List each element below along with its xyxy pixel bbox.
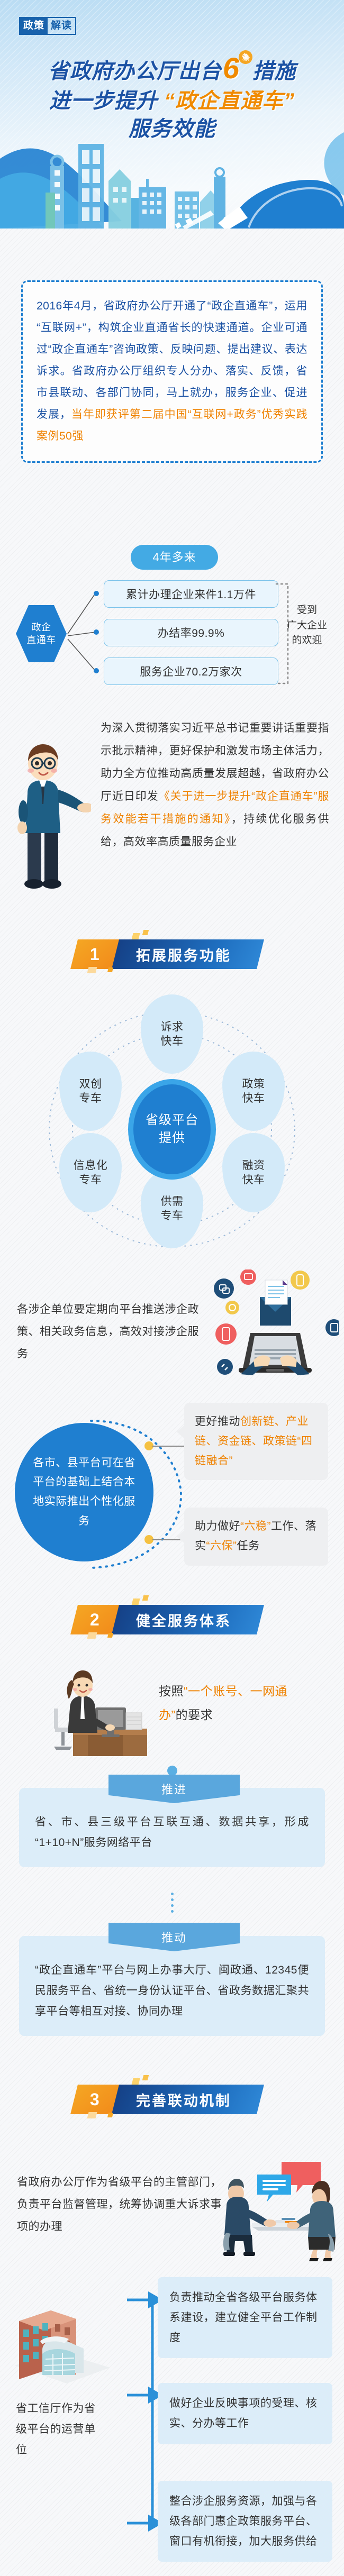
page-header: 政策 解读 省政府办公厅出台6条措施 进一步提升 “政企直通车” 服务效能 [0,0,344,229]
gongxinting-label: 省工信厅作为省级平台的运营单位 [16,2399,101,2461]
title-line-2-highlight: “政企直通车” [164,89,295,113]
section-header-1: 拓展服务功能 1 [74,936,275,971]
section-3-number-chip: 3 [70,2085,119,2114]
petal-center-line-1: 省级平台 [146,1111,198,1129]
petal-1-line-1: 政策 [242,1077,265,1091]
section2-req-a: 按照 [159,1684,184,1698]
petal-1-line-2: 快车 [242,1091,265,1106]
stats-note: 受到 广大企业 的欢迎 [279,603,334,648]
section-3-number: 3 [90,2090,99,2109]
stats-hexagon-label: 政企 直通车 [16,605,67,662]
petal-center-line-2: 提供 [159,1129,185,1147]
petal-0-line-1: 诉求 [161,1020,184,1034]
policy-paragraph: 为深入贯彻落实习近平总书记重要讲话重要指示批示精神，更好保护和激发市场主体活力，… [101,717,329,853]
hexagon-line-1: 政企 [32,621,51,634]
section-2-number: 2 [90,1610,99,1630]
flow-dots-2 [171,1893,174,1918]
section-header-2: 健全服务体系 2 [74,1602,275,1637]
intro-dashed-box: 2016年4月，省政府办公厅开通了“政企直通车”，运用“互联网+”，构筑企业直通… [21,280,323,463]
flow-dot [171,1904,174,1907]
section-1-title-bar: 拓展服务功能 [103,939,264,969]
section-1-number-chip: 1 [70,939,119,969]
stats-period-pill: 4年多来 [131,545,218,570]
policy-paragraph-block: 为深入贯彻落实习近平总书记重要讲话重要指示批示精神，更好保护和激发市场主体活力，… [101,717,329,853]
page-title: 省政府办公厅出台6条措施 进一步提升 “政企直通车” 服务效能 [0,51,344,142]
section3-duty-box-2: 做好企业反映事项的受理、核实、分办等工作 [158,2383,332,2444]
title-line-1-suffix: 措施 [252,60,296,83]
petal-4-line-1: 信息化 [74,1158,108,1173]
section1-paragraph: 各涉企单位要定期向平台推送涉企政策、相关政务信息，高效对接涉企服务 [17,1299,202,1365]
title-line-3: 服务效能 [0,117,344,142]
section-2-spark-2 [142,1595,149,1601]
petal-diagram: 诉求 快车 政策 快车 融资 快车 供需 专车 信息化 专车 双创 专车 省级平… [29,994,315,1248]
meeting-two-people-icon [222,2155,339,2261]
section-header-3: 完善联动机制 3 [74,2081,275,2116]
callout-2-highlight-1: “六稳” [240,1520,271,1532]
policy-interpretation-tag: 政策 解读 [19,17,76,35]
stats-note-line-1: 受到 [279,603,334,618]
section-1-spark-4 [107,967,113,972]
local-platform-circle: 各市、县平台可在省平台的基础上结合本地实际推出个性化服务 [15,1423,153,1561]
flow-dot [171,1898,174,1901]
petal-3-line-1: 供需 [161,1194,184,1209]
callout-six-stabilities: 助力做好“六稳”工作、落实“六保”任务 [184,1508,328,1566]
section3-paragraph-block: 省政府办公厅作为省级平台的主管部门，负责平台监督管理，统筹协调重大诉求事项的办理 [17,2171,229,2238]
section1-paragraph-block: 各涉企单位要定期向平台推送涉企政策、相关政务信息，高效对接涉企服务 [17,1299,202,1365]
petal-4-line-2: 专车 [79,1173,102,1187]
petal-3-line-2: 专车 [161,1209,184,1223]
section3-duty-box-3: 整合涉企服务资源，加强与各级各部门惠企政策服务平台、窗口有机衔接，加大服务供给 [158,2481,332,2562]
section-3-title: 完善联动机制 [136,2089,231,2110]
section2-requirement: 按照“一个账号、一网通办”的要求 [159,1679,291,1727]
section-1-spark-3 [87,967,97,973]
callout-2-text-a: 助力做好 [195,1520,240,1532]
section3-duty-box-1: 负责推动全省各级平台服务体系建设，建立健全平台工作制度 [158,2277,332,2358]
section-3-spark-3 [87,2112,97,2118]
title-badge-tiao: 条 [239,50,252,64]
petal-center-node: 省级平台 提供 [128,1079,216,1180]
stat-item-1: 办结率99.9% [104,619,278,646]
intro-paragraph: 2016年4月，省政府办公厅开通了“政企直通车”，运用“互联网+”，构筑企业直通… [37,296,307,447]
intro-highlight: 当年即获评第二届中国“互联网+政务”优秀实践案例50强 [37,408,307,442]
section-2-title: 健全服务体系 [136,1610,231,1630]
petal-5-line-2: 专车 [79,1091,102,1106]
woman-at-desk-icon [42,1666,159,1761]
section-1-title: 拓展服务功能 [136,944,231,965]
section-2-number-chip: 2 [70,1605,119,1634]
petal-5-line-1: 双创 [79,1077,102,1091]
hexagon-line-2: 直通车 [26,634,56,646]
petal-2-line-1: 融资 [242,1158,265,1173]
title-number-6: 6 [222,51,241,85]
callout-four-chains: 更好推动创新链、产业链、资金链、政策链“四链融合” [184,1403,328,1480]
title-line-1-text: 省政府办公厅出台 [48,60,222,83]
section-3-spark-2 [142,2075,149,2080]
callout-2-highlight-2: “六保” [206,1540,237,1552]
infographic-page: 政策 解读 省政府办公厅出台6条措施 进一步提升 “政企直通车” 服务效能 20… [0,0,344,2576]
section3-paragraph: 省政府办公厅作为省级平台的主管部门，负责平台监督管理，统筹协调重大诉求事项的办理 [17,2171,229,2238]
stats-note-line-3: 的欢迎 [279,633,334,648]
section-2-spark-3 [87,1632,97,1639]
policy-tag-part1: 政策 [20,18,48,34]
petal-2-line-2: 快车 [242,1173,265,1187]
title-line-1: 省政府办公厅出台6条措施 [0,51,344,86]
flow-dot [171,1910,174,1913]
stats-note-line-2: 广大企业 [279,618,334,634]
policy-tag-part2: 解读 [48,18,75,34]
section2-requirement-block: 按照“一个账号、一网通办”的要求 [159,1679,291,1727]
laptop-hands-icon [209,1269,339,1383]
title-line-2-text: 进一步提升 [49,89,158,113]
section-1-spark-2 [142,930,149,935]
callout-connector-1 [152,1446,185,1447]
section-2-spark-4 [107,1633,113,1638]
section-3-title-bar: 完善联动机制 [103,2085,264,2114]
flow-dot [171,1893,174,1895]
stat-item-2: 服务企业70.2万家次 [104,657,278,685]
section-3-spark-4 [107,2113,113,2117]
section-2-title-bar: 健全服务体系 [103,1605,264,1634]
callout-1-text: 更好推动 [195,1415,240,1428]
callout-2-text-c: 任务 [237,1540,260,1552]
stat-item-0: 累计办理企业来件1.1万件 [104,580,278,608]
section-1-number: 1 [90,945,99,964]
petal-0-line-2: 快车 [161,1034,184,1048]
businessman-pointing-icon [12,738,91,897]
title-line-2: 进一步提升 “政企直通车” [0,89,344,114]
intro-text: 2016年4月，省政府办公厅开通了“政企直通车”，运用“互联网+”，构筑企业直通… [37,300,307,421]
section2-req-b: 的要求 [176,1708,213,1722]
flow-dot [171,1772,174,1775]
